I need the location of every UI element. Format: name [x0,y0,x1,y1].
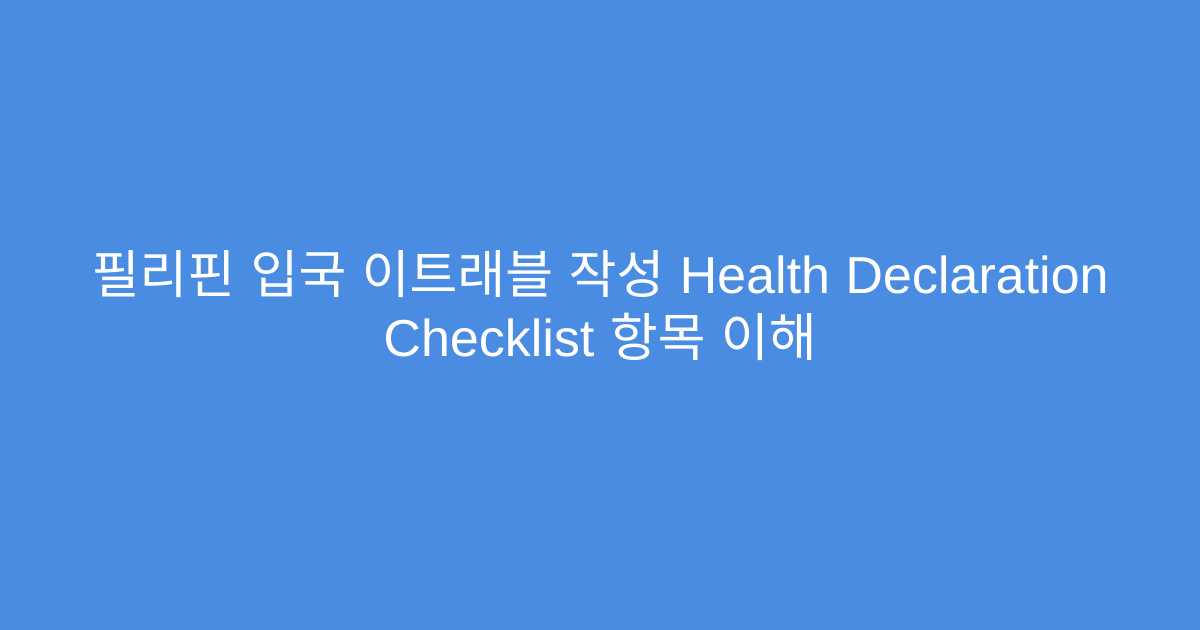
title-block: 필리핀 입국 이트래블 작성 Health Declaration Checkl… [80,245,1120,371]
social-share-card: 필리핀 입국 이트래블 작성 Health Declaration Checkl… [0,0,1200,630]
page-title: 필리핀 입국 이트래블 작성 Health Declaration Checkl… [80,245,1120,371]
